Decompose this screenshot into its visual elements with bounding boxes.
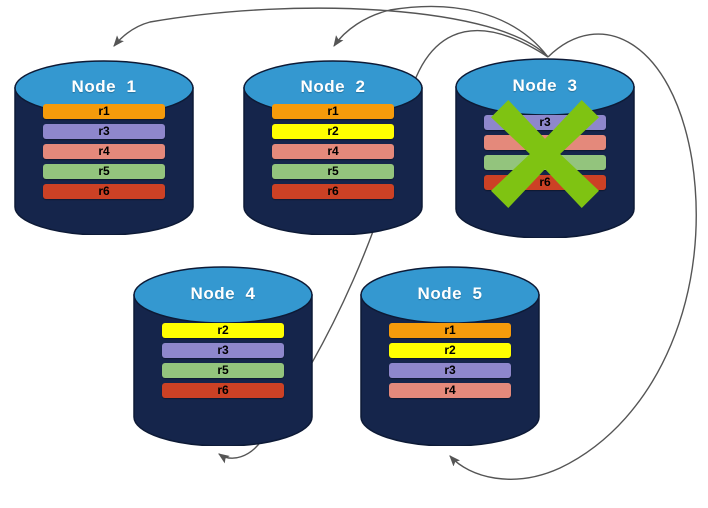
database-node-4[interactable]: Node 4r2r3r5r6 [133,266,313,446]
shard-bar-r2[interactable]: r2 [162,323,284,338]
database-node-1[interactable]: Node 1r1r3r4r5r6 [14,60,194,235]
database-node-2[interactable]: Node 2r1r2r4r5r6 [243,60,423,235]
node-title: Node 4 [133,284,313,304]
node-title: Node 3 [455,76,635,96]
shard-list: r1r3r4r5r6 [14,104,194,199]
shard-bar-r6[interactable]: r6 [272,184,394,199]
node-title: Node 2 [243,77,423,97]
shard-bar-r2[interactable]: r2 [272,124,394,139]
database-node-5[interactable]: Node 5r1r2r3r4 [360,266,540,446]
shard-bar-r6[interactable]: r6 [484,175,606,190]
shard-bar-r5[interactable]: r5 [43,164,165,179]
shard-bar-r3[interactable]: r3 [43,124,165,139]
node-title: Node 5 [360,284,540,304]
shard-bar-r1[interactable]: r1 [389,323,511,338]
shard-list: r2r3r5r6 [133,323,313,398]
shard-bar-r4[interactable]: r4 [389,383,511,398]
shard-list: r1r2r4r5r6 [243,104,423,199]
database-node-3[interactable]: Node 3r3r4r5r6 [455,58,635,238]
shard-bar-r3[interactable]: r3 [484,115,606,130]
shard-bar-r5[interactable]: r5 [484,155,606,170]
shard-list: r3r4r5r6 [455,115,635,190]
shard-bar-r4[interactable]: r4 [43,144,165,159]
shard-bar-r4[interactable]: r4 [484,135,606,150]
edge-node3-to-node2 [334,6,548,57]
node-title: Node 1 [14,77,194,97]
diagram-canvas: Node 1r1r3r4r5r6Node 2r1r2r4r5r6Node 3r3… [0,0,708,508]
shard-bar-r4[interactable]: r4 [272,144,394,159]
shard-bar-r1[interactable]: r1 [272,104,394,119]
shard-bar-r3[interactable]: r3 [162,343,284,358]
shard-bar-r1[interactable]: r1 [43,104,165,119]
shard-bar-r6[interactable]: r6 [162,383,284,398]
shard-bar-r5[interactable]: r5 [162,363,284,378]
shard-bar-r3[interactable]: r3 [389,363,511,378]
shard-bar-r6[interactable]: r6 [43,184,165,199]
shard-list: r1r2r3r4 [360,323,540,398]
shard-bar-r5[interactable]: r5 [272,164,394,179]
edge-node3-to-node1 [114,8,548,57]
shard-bar-r2[interactable]: r2 [389,343,511,358]
